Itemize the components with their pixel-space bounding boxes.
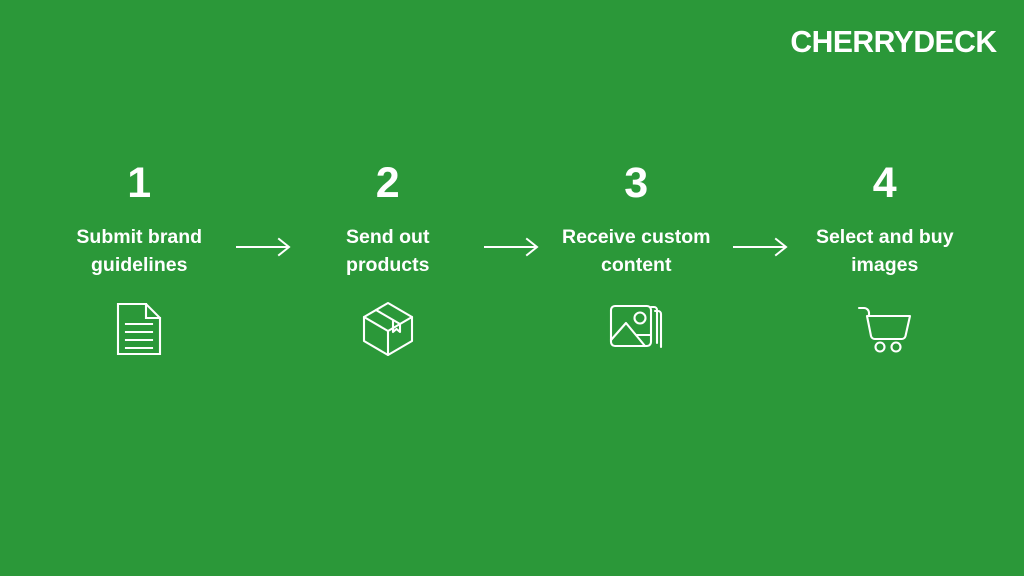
- step-label-4: Select and buy images: [816, 224, 954, 280]
- photo-stack-icon: [607, 301, 665, 357]
- step-label-2-line1: Send out: [346, 224, 429, 252]
- process-step-4: 4 Select and buy images: [796, 160, 975, 357]
- step-label-3: Receive custom content: [562, 224, 711, 280]
- step-label-3-line2: content: [562, 252, 711, 280]
- process-steps-row: 1 Submit brand guidelines: [50, 160, 974, 357]
- process-step-3: 3 Receive custom content: [547, 160, 726, 357]
- step-label-4-line2: images: [816, 252, 954, 280]
- slide-canvas: CHERRYDECK 1 Submit brand guidelines: [0, 0, 1024, 576]
- step-label-1-line2: guidelines: [76, 252, 202, 280]
- step-label-4-line1: Select and buy: [816, 224, 954, 252]
- step-label-1-line1: Submit brand: [76, 224, 202, 252]
- step-number-3: 3: [624, 160, 648, 206]
- step-label-2-line2: products: [346, 252, 429, 280]
- package-box-icon: [360, 301, 416, 357]
- process-step-1: 1 Submit brand guidelines: [50, 160, 229, 357]
- document-icon: [115, 301, 163, 357]
- step-label-2: Send out products: [346, 224, 429, 280]
- arrow-right-icon-2: [477, 224, 547, 270]
- step-number-4: 4: [873, 160, 897, 206]
- step-number-1: 1: [127, 160, 151, 206]
- arrow-right-icon-1: [229, 224, 299, 270]
- shopping-cart-icon: [856, 301, 914, 357]
- arrow-right-icon-3: [726, 224, 796, 270]
- step-number-2: 2: [376, 160, 400, 206]
- process-step-2: 2 Send out products: [299, 160, 478, 357]
- step-label-3-line1: Receive custom: [562, 224, 711, 252]
- step-label-1: Submit brand guidelines: [76, 224, 202, 280]
- brand-logo: CHERRYDECK: [791, 26, 997, 57]
